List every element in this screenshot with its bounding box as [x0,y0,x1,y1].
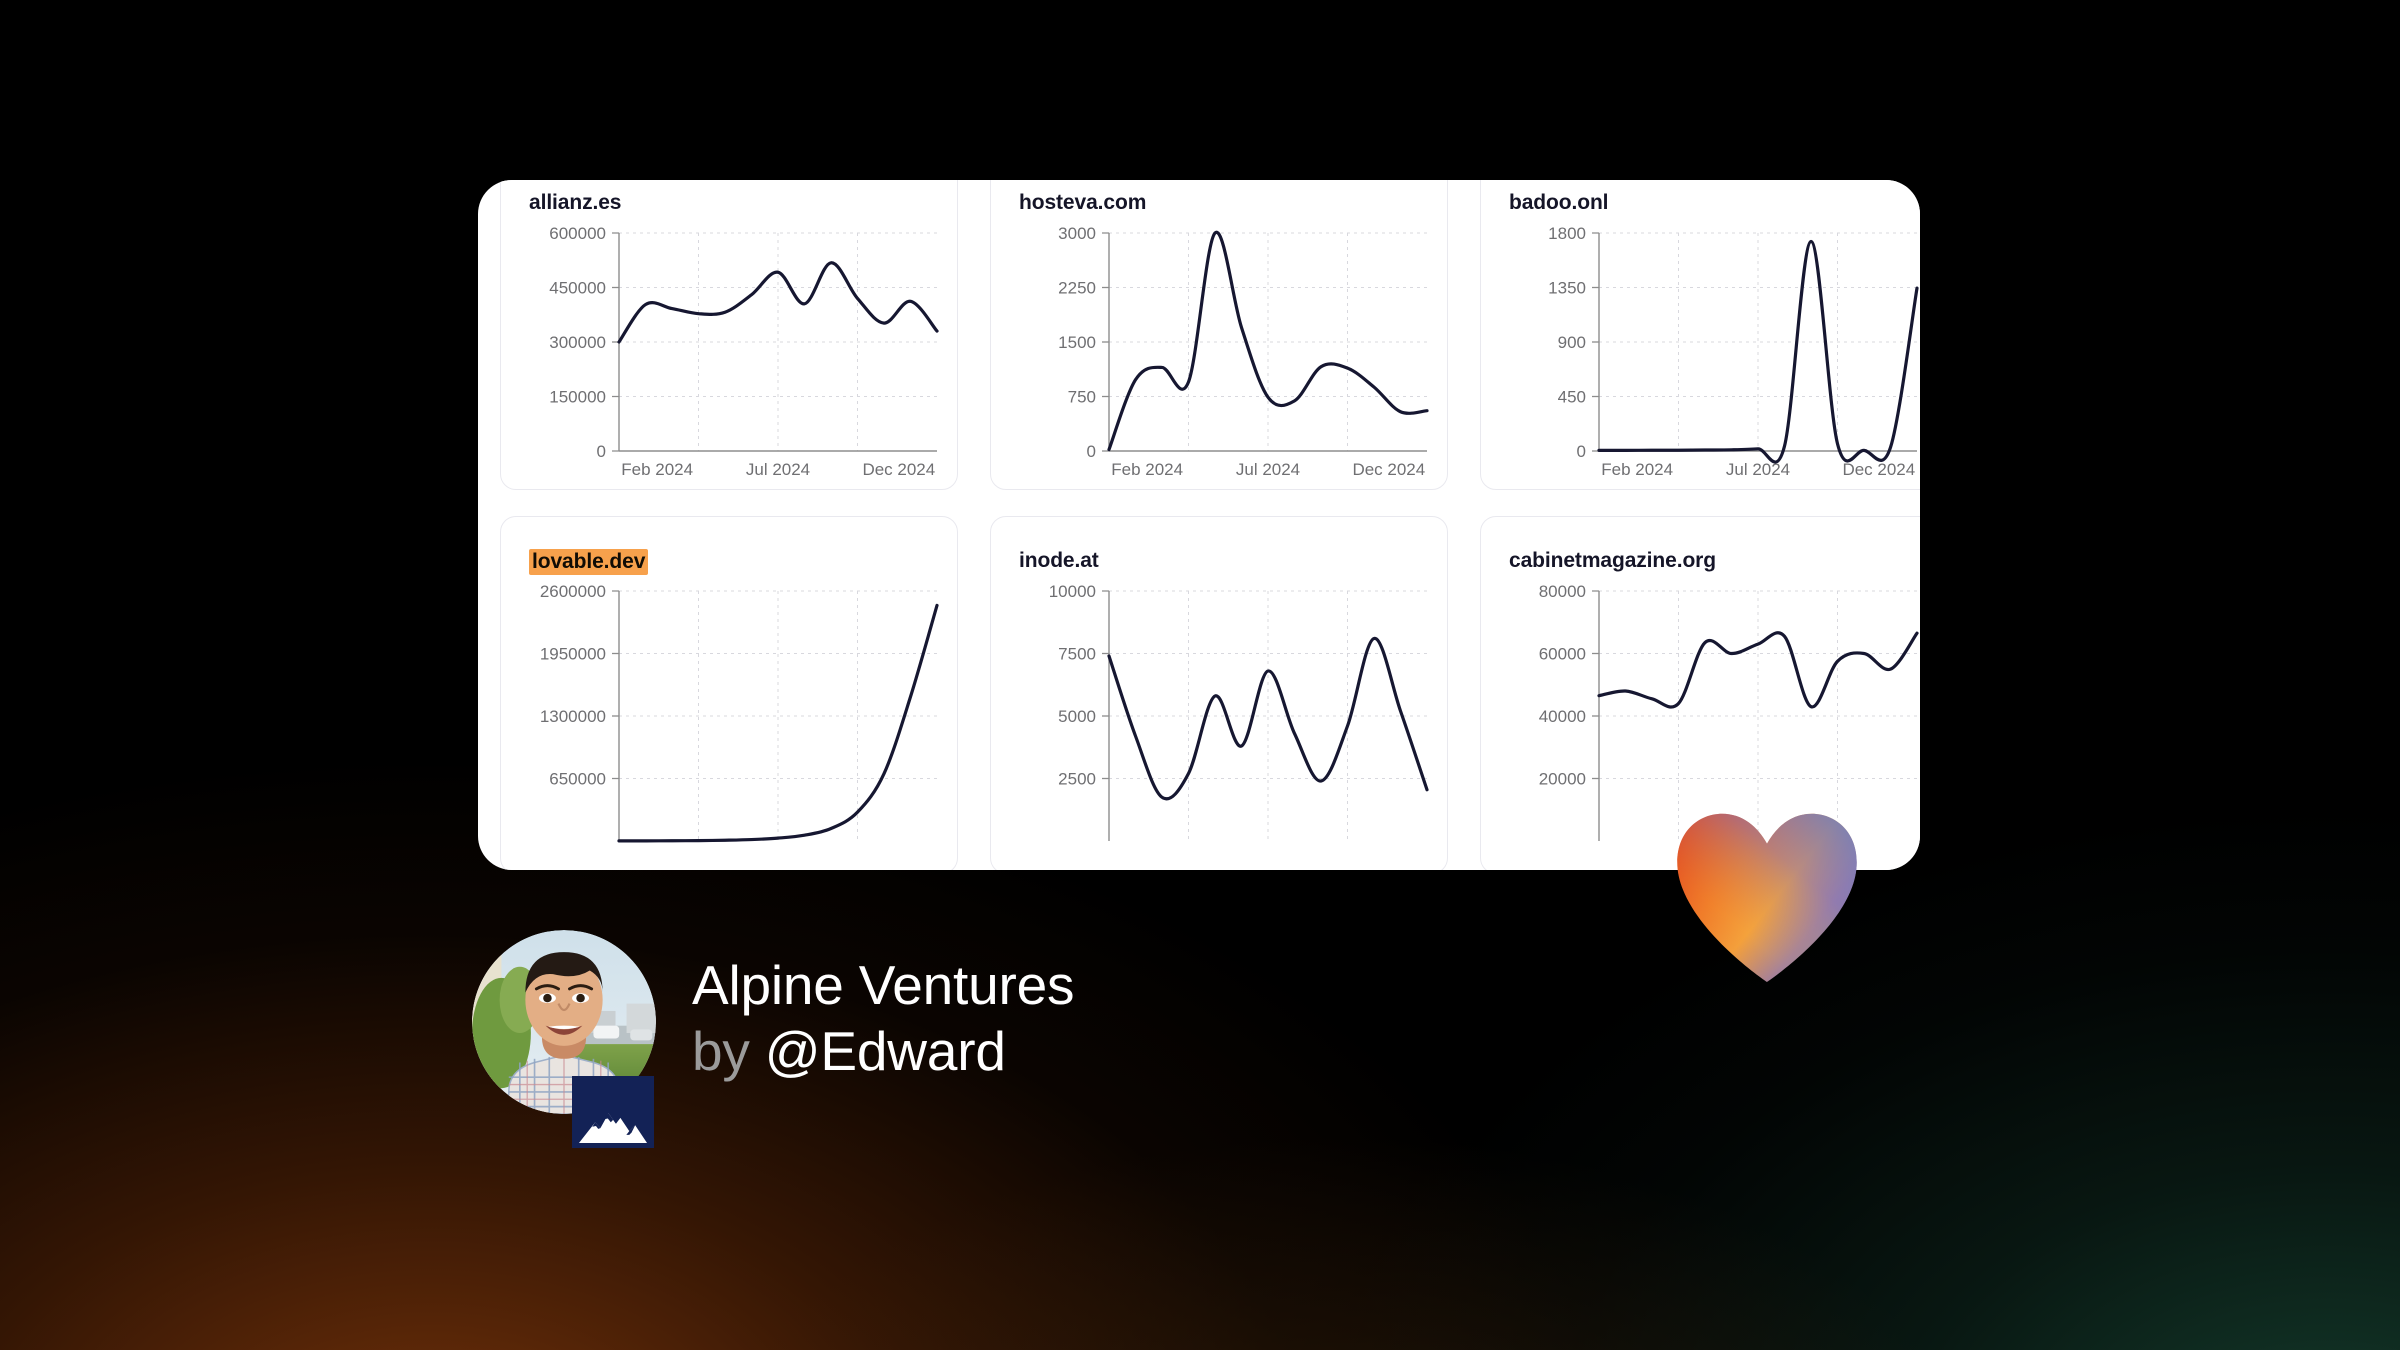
chart-title-allianz: allianz.es [529,191,621,215]
svg-text:7500: 7500 [1058,645,1096,664]
svg-text:Jul 2024: Jul 2024 [1726,460,1790,479]
chart-tile-lovable[interactable]: lovable.dev650000130000019500002600000 [500,516,958,870]
chart-tile-allianz[interactable]: allianz.es0150000300000450000600000Feb 2… [500,180,958,490]
chart-svg-hosteva: 0750150022503000Feb 2024Jul 2024Dec 2024 [991,221,1448,489]
svg-text:Jul 2024: Jul 2024 [746,460,810,479]
svg-text:Feb 2024: Feb 2024 [1111,460,1183,479]
heart-icon [1672,810,1862,982]
svg-text:Dec 2024: Dec 2024 [1352,460,1425,479]
svg-text:2600000: 2600000 [540,582,606,601]
svg-text:600000: 600000 [549,224,606,243]
avatar [472,930,656,1114]
chart-svg-allianz: 0150000300000450000600000Feb 2024Jul 202… [501,221,958,489]
byline-text: Alpine Ventures by @Edward [692,955,1074,1088]
svg-text:1800: 1800 [1548,224,1586,243]
byline: Alpine Ventures by @Edward [472,930,1074,1114]
svg-text:Dec 2024: Dec 2024 [1842,460,1915,479]
svg-text:Feb 2024: Feb 2024 [1601,460,1673,479]
byline-subtitle: by @Edward [692,1021,1074,1083]
svg-text:2250: 2250 [1058,279,1096,298]
svg-text:1350: 1350 [1548,279,1586,298]
svg-text:Feb 2024: Feb 2024 [621,460,693,479]
svg-text:1950000: 1950000 [540,645,606,664]
svg-text:10000: 10000 [1049,582,1096,601]
svg-text:0: 0 [597,442,606,461]
mountain-icon [572,1076,654,1148]
svg-text:150000: 150000 [549,388,606,407]
chart-svg-badoo: 045090013501800Feb 2024Jul 2024Dec 2024 [1481,221,1920,489]
svg-text:3000: 3000 [1058,224,1096,243]
svg-text:80000: 80000 [1539,582,1586,601]
svg-text:450000: 450000 [549,279,606,298]
svg-text:Jul 2024: Jul 2024 [1236,460,1300,479]
svg-text:300000: 300000 [549,333,606,352]
chart-tile-inode[interactable]: inode.at25005000750010000 [990,516,1448,870]
svg-text:60000: 60000 [1539,645,1586,664]
svg-text:650000: 650000 [549,770,606,789]
series-line-badoo [1599,241,1917,462]
chart-title-inode: inode.at [1019,549,1099,573]
svg-text:1300000: 1300000 [540,707,606,726]
svg-text:40000: 40000 [1539,707,1586,726]
svg-text:1500: 1500 [1058,333,1096,352]
svg-text:20000: 20000 [1539,770,1586,789]
svg-text:0: 0 [1087,442,1096,461]
chart-title-cabinetmagazine: cabinetmagazine.org [1509,549,1716,573]
page-title: Alpine Ventures [692,955,1074,1017]
svg-text:0: 0 [1577,442,1586,461]
chart-svg-inode: 25005000750010000 [991,579,1448,870]
chart-tile-grid: allianz.es0150000300000450000600000Feb 2… [500,180,1920,870]
byline-handle: @Edward [765,1020,1006,1082]
chart-title-lovable: lovable.dev [529,549,648,575]
svg-text:2500: 2500 [1058,770,1096,789]
series-line-allianz [619,263,937,342]
svg-text:750: 750 [1068,388,1096,407]
chart-tile-hosteva[interactable]: hosteva.com0750150022503000Feb 2024Jul 2… [990,180,1448,490]
svg-text:Dec 2024: Dec 2024 [862,460,935,479]
chart-title-hosteva: hosteva.com [1019,191,1146,215]
svg-text:450: 450 [1558,388,1586,407]
chart-tile-badoo[interactable]: badoo.onl045090013501800Feb 2024Jul 2024… [1480,180,1920,490]
byline-by-label: by [692,1020,750,1082]
chart-svg-lovable: 650000130000019500002600000 [501,579,958,870]
svg-text:5000: 5000 [1058,707,1096,726]
dashboard-card: allianz.es0150000300000450000600000Feb 2… [478,180,1920,870]
chart-title-badoo: badoo.onl [1509,191,1608,215]
svg-text:900: 900 [1558,333,1586,352]
